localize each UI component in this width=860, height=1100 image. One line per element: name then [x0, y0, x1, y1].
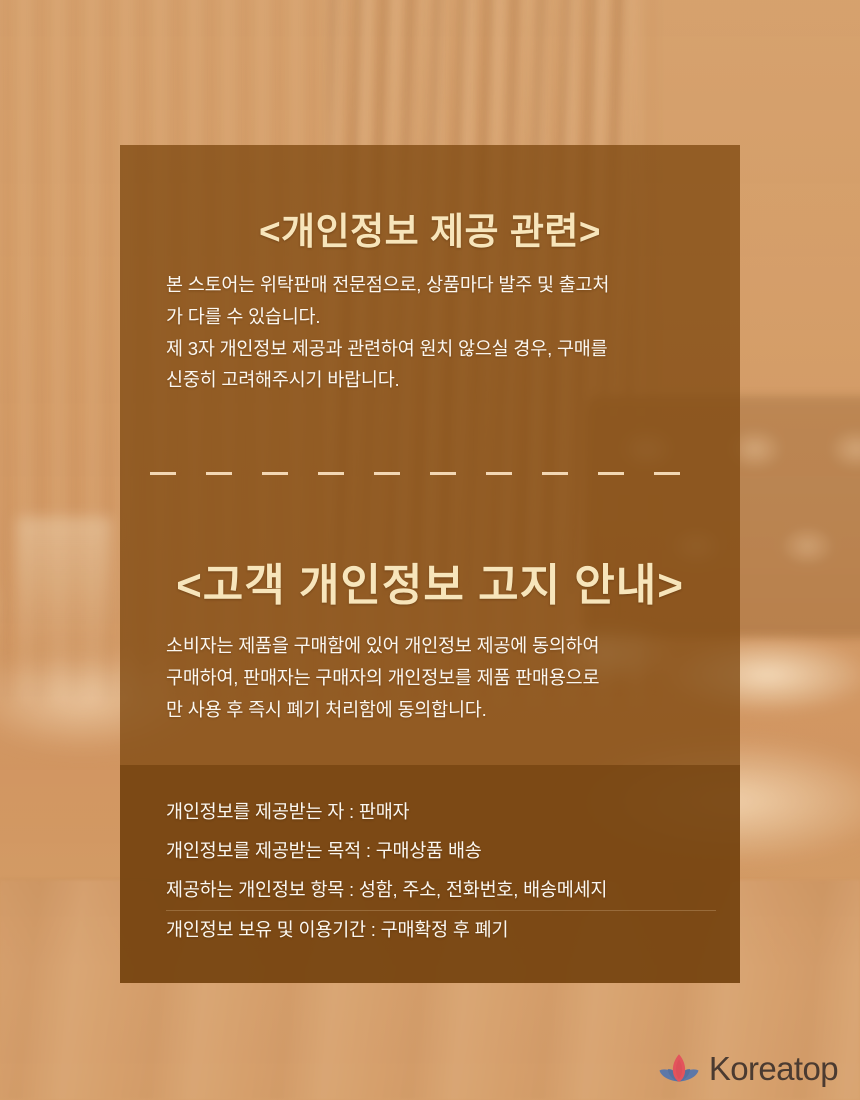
detail-list-item: 제공하는 개인정보 항목 : 성함, 주소, 전화번호, 배송메세지 — [166, 871, 716, 911]
secondary-paragraph: 소비자는 제품을 구매함에 있어 개인정보 제공에 동의하여 구매하여, 판매자… — [166, 630, 712, 725]
brand-logo: Koreatop — [657, 1050, 838, 1086]
brand-wordmark: Koreatop — [709, 1052, 838, 1085]
paragraph-line: 본 스토어는 위탁판매 전문점으로, 상품마다 발주 및 출고처 — [166, 269, 712, 301]
paragraph-line: 만 사용 후 즉시 폐기 처리함에 동의합니다. — [166, 694, 712, 726]
paragraph-line: 구매하여, 판매자는 구매자의 개인정보를 제품 판매용으로 — [166, 662, 712, 694]
paragraph-line: 신중히 고려해주시기 바랍니다. — [166, 364, 712, 396]
primary-paragraph: 본 스토어는 위탁판매 전문점으로, 상품마다 발주 및 출고처 가 다를 수 … — [166, 269, 712, 396]
paragraph-line: 소비자는 제품을 구매함에 있어 개인정보 제공에 동의하여 — [166, 630, 712, 662]
primary-section-title: <개인정보 제공 관련> — [120, 210, 740, 254]
detail-list-item: 개인정보를 제공받는 목적 : 구매상품 배송 — [166, 832, 716, 871]
secondary-section-title: <고객 개인정보 고지 안내> — [120, 560, 740, 613]
privacy-notice-card: <개인정보 제공 관련> 본 스토어는 위탁판매 전문점으로, 상품마다 발주 … — [120, 145, 740, 983]
detail-list-item: 개인정보를 제공받는 자 : 판매자 — [166, 793, 716, 832]
dashed-divider — [150, 472, 710, 475]
lotus-flower-icon — [657, 1050, 701, 1086]
privacy-detail-list: 개인정보를 제공받는 자 : 판매자 개인정보를 제공받는 목적 : 구매상품 … — [166, 793, 716, 950]
paragraph-line: 가 다를 수 있습니다. — [166, 301, 712, 333]
detail-list-item: 개인정보 보유 및 이용기간 : 구매확정 후 폐기 — [166, 911, 716, 950]
paragraph-line: 제 3자 개인정보 제공과 관련하여 원치 않으실 경우, 구매를 — [166, 333, 712, 365]
card-content: <개인정보 제공 관련> 본 스토어는 위탁판매 전문점으로, 상품마다 발주 … — [120, 145, 740, 983]
page-root: <개인정보 제공 관련> 본 스토어는 위탁판매 전문점으로, 상품마다 발주 … — [0, 0, 860, 1100]
